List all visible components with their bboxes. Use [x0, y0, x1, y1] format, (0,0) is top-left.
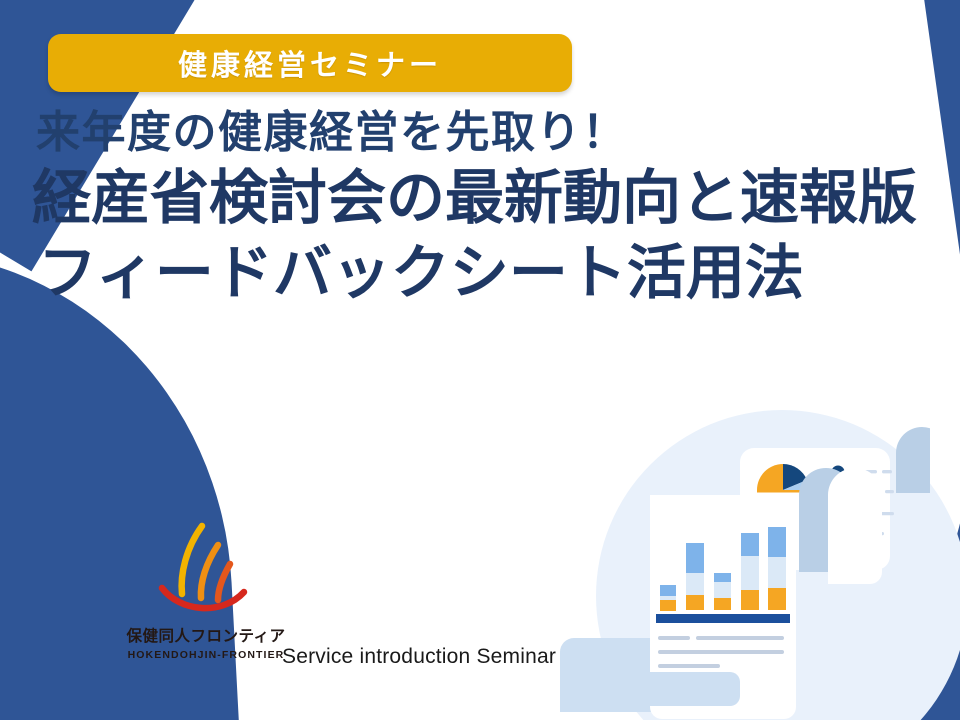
- logo-name-english: HOKENDOHJIN-FRONTIER: [126, 649, 286, 661]
- logo-name-japanese: 保健同人フロンティア: [126, 624, 286, 646]
- chart-baseline: [656, 614, 790, 623]
- arc-fan-logo-icon: [146, 518, 266, 622]
- decor-block-bottom-left: [600, 672, 740, 706]
- title-line-3: フィードバックシート活用法: [38, 238, 932, 309]
- badge-label: 健康経営セミナー: [178, 42, 442, 84]
- title-line-2: 経産省検討会の最新動向と速報版: [32, 163, 932, 234]
- page-title: 来年度の健康経営を先取り！ 経産省検討会の最新動向と速報版 フィードバックシート…: [32, 108, 932, 313]
- illustration-report-documents: [600, 420, 960, 720]
- title-line-1: 来年度の健康経営を先取り！: [36, 108, 932, 157]
- seminar-category-badge: 健康経営セミナー: [48, 34, 572, 92]
- company-logo: 保健同人フロンティア HOKENDOHJIN-FRONTIER: [126, 518, 286, 661]
- seminar-title-slide: 健康経営セミナー 来年度の健康経営を先取り！ 経産省検討会の最新動向と速報版 フ…: [0, 0, 960, 720]
- subtitle-english: Service introduction Seminar: [282, 645, 556, 669]
